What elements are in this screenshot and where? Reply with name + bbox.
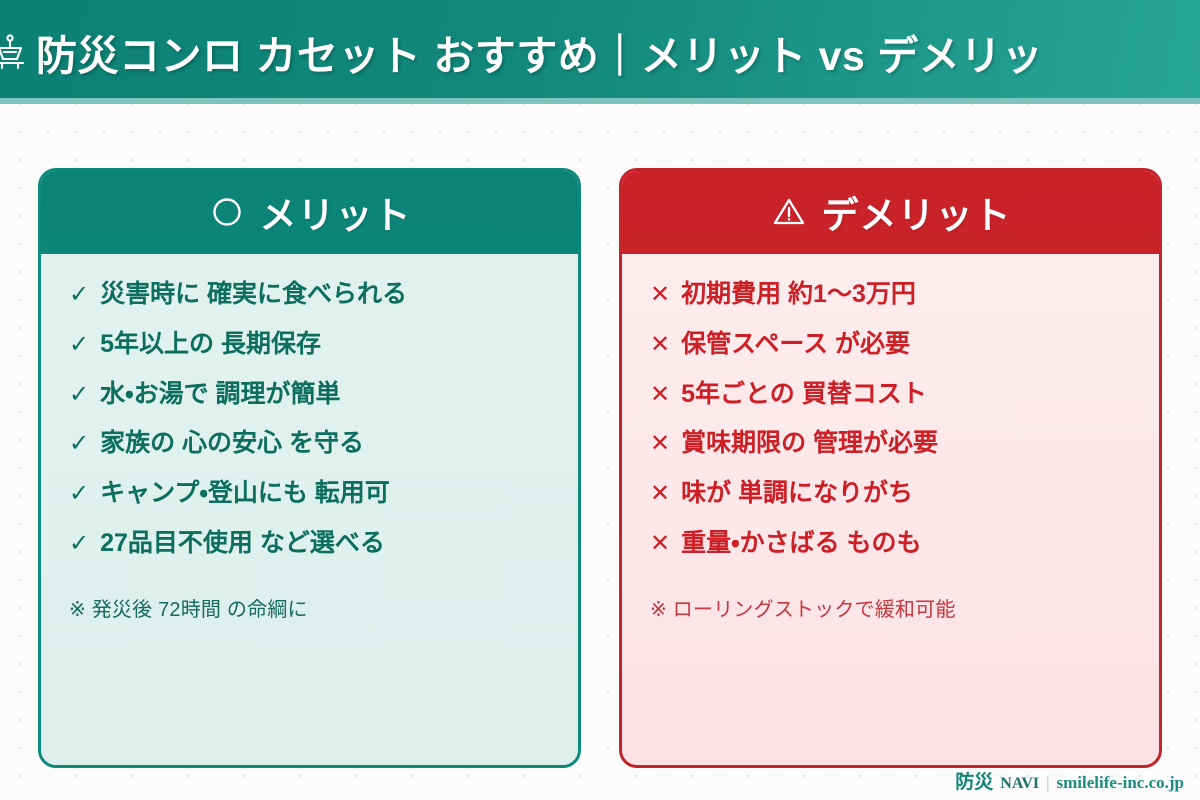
brand-name-jp: 防災 <box>955 767 993 794</box>
footer-url: smilelife-inc.co.jp <box>1057 773 1184 793</box>
demerit-card-title: デメリット <box>822 185 1012 239</box>
list-item-label: 水・お湯で 調理が簡単 <box>100 380 550 409</box>
cross-icon: ✕ <box>650 532 670 556</box>
merit-card-header: メリット <box>40 170 579 254</box>
merit-footnote: ※ 発災後 72時間 の命綱に <box>69 593 550 622</box>
merit-card: メリット ✓ 災害時に 確実に食べられる ✓ 5年以上の 長期保存 ✓ 水・お湯… <box>38 168 581 768</box>
page-title: 防災コンロ カセット おすすめ｜メリット vs デメリッ <box>36 22 1200 82</box>
list-item: ✕ 保管スペース が必要 <box>650 330 1131 359</box>
list-item: ✕ 賞味期限の 管理が必要 <box>650 429 1131 458</box>
list-item: ✕ 初期費用 約1〜3万円 <box>650 280 1131 309</box>
check-icon: ✓ <box>69 383 89 407</box>
cross-icon: ✕ <box>650 283 670 307</box>
list-item: ✕ 重量・かさばる ものも <box>650 529 1131 558</box>
demerit-card: デメリット ✕ 初期費用 約1〜3万円 ✕ 保管スペース が必要 ✕ 5年ごとの… <box>619 168 1162 768</box>
list-item: ✓ 27品目不使用 など選べる <box>69 529 550 558</box>
list-item-label: キャンプ・登山にも 転用可 <box>100 479 550 508</box>
check-icon: ✓ <box>69 532 89 556</box>
list-item-label: 味が 単調になりがち <box>681 479 1131 508</box>
brand-name-en: NAVI <box>1000 775 1039 793</box>
list-item: ✕ 5年ごとの 買替コスト <box>650 380 1131 409</box>
check-icon: ✓ <box>69 283 89 307</box>
list-item-label: 27品目不使用 など選べる <box>100 529 550 558</box>
footer-branding: 防災NAVI | smilelife-inc.co.jp <box>955 767 1184 794</box>
cross-icon: ✕ <box>650 482 670 506</box>
demerit-card-body: ✕ 初期費用 約1〜3万円 ✕ 保管スペース が必要 ✕ 5年ごとの 買替コスト… <box>622 254 1159 765</box>
cross-icon: ✕ <box>650 383 670 407</box>
header-bar: 防災コンロ カセット おすすめ｜メリット vs デメリッ <box>0 0 1200 104</box>
list-item-label: 5年ごとの 買替コスト <box>681 380 1131 409</box>
list-item: ✓ 災害時に 確実に食べられる <box>69 280 550 309</box>
list-item: ✓ 家族の 心の安心 を守る <box>69 429 550 458</box>
warning-triangle-icon <box>770 193 808 231</box>
list-item-label: 災害時に 確実に食べられる <box>100 280 550 309</box>
check-icon: ✓ <box>69 482 89 506</box>
merit-card-body: ✓ 災害時に 確実に食べられる ✓ 5年以上の 長期保存 ✓ 水・お湯で 調理が… <box>41 254 578 765</box>
list-item: ✓ 5年以上の 長期保存 <box>69 330 550 359</box>
list-item-label: 家族の 心の安心 を守る <box>100 429 550 458</box>
list-item-label: 保管スペース が必要 <box>681 330 1131 359</box>
header-accent-strip <box>0 98 1200 104</box>
cross-icon: ✕ <box>650 432 670 456</box>
check-icon: ✓ <box>69 333 89 357</box>
list-item: ✕ 味が 単調になりがち <box>650 479 1131 508</box>
camp-stove-icon <box>0 30 28 74</box>
demerit-card-header: デメリット <box>621 170 1160 254</box>
list-item: ✓ 水・お湯で 調理が簡単 <box>69 380 550 409</box>
footer-separator: | <box>1046 773 1049 793</box>
demerit-footnote: ※ ローリングストックで緩和可能 <box>650 593 1131 622</box>
list-item-label: 重量・かさばる ものも <box>681 529 1131 558</box>
comparison-cards: メリット ✓ 災害時に 確実に食べられる ✓ 5年以上の 長期保存 ✓ 水・お湯… <box>0 168 1200 768</box>
list-item-label: 初期費用 約1〜3万円 <box>681 280 1131 309</box>
cross-icon: ✕ <box>650 333 670 357</box>
merit-card-title: メリット <box>260 185 412 239</box>
list-item-label: 賞味期限の 管理が必要 <box>681 429 1131 458</box>
list-item: ✓ キャンプ・登山にも 転用可 <box>69 479 550 508</box>
list-item-label: 5年以上の 長期保存 <box>100 330 550 359</box>
circle-icon <box>208 193 246 231</box>
check-icon: ✓ <box>69 432 89 456</box>
